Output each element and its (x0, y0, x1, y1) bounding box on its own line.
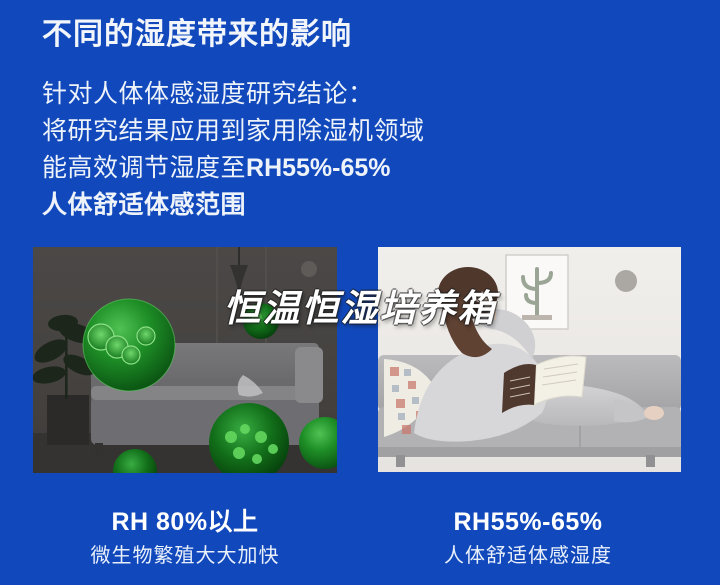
caption-comfort-humidity-title: RH55%-65% (363, 506, 693, 538)
intro-line-4: 人体舒适体感范围 (42, 187, 425, 224)
caption-high-humidity: RH 80%以上 微生物繁殖大大加快 (20, 506, 350, 569)
caption-high-humidity-title: RH 80%以上 (20, 506, 350, 538)
intro-line-1: 针对人体体感湿度研究结论： (42, 76, 425, 113)
photo-high-humidity (33, 247, 337, 473)
intro-line-3-range: RH55%-65% (246, 154, 391, 182)
photo-comfort-humidity-illustration (378, 247, 681, 472)
intro-line-2: 将研究结果应用到家用除湿机领域 (42, 113, 425, 150)
photo-comfort-humidity (378, 247, 681, 472)
photo-high-humidity-illustration (33, 247, 337, 473)
caption-high-humidity-subtitle: 微生物繁殖大大加快 (20, 543, 350, 569)
caption-comfort-humidity: RH55%-65% 人体舒适体感湿度 (363, 506, 693, 569)
intro-paragraph: 针对人体体感湿度研究结论： 将研究结果应用到家用除湿机领域 能高效调节湿度至RH… (42, 76, 425, 224)
intro-line-3: 能高效调节湿度至RH55%-65% (42, 150, 425, 187)
page-title: 不同的湿度带来的影响 (42, 16, 352, 54)
humidity-infographic-poster: 不同的湿度带来的影响 针对人体体感湿度研究结论： 将研究结果应用到家用除湿机领域… (0, 0, 720, 585)
caption-comfort-humidity-subtitle: 人体舒适体感湿度 (363, 543, 693, 569)
intro-line-3-normal: 能高效调节湿度至 (42, 154, 246, 182)
